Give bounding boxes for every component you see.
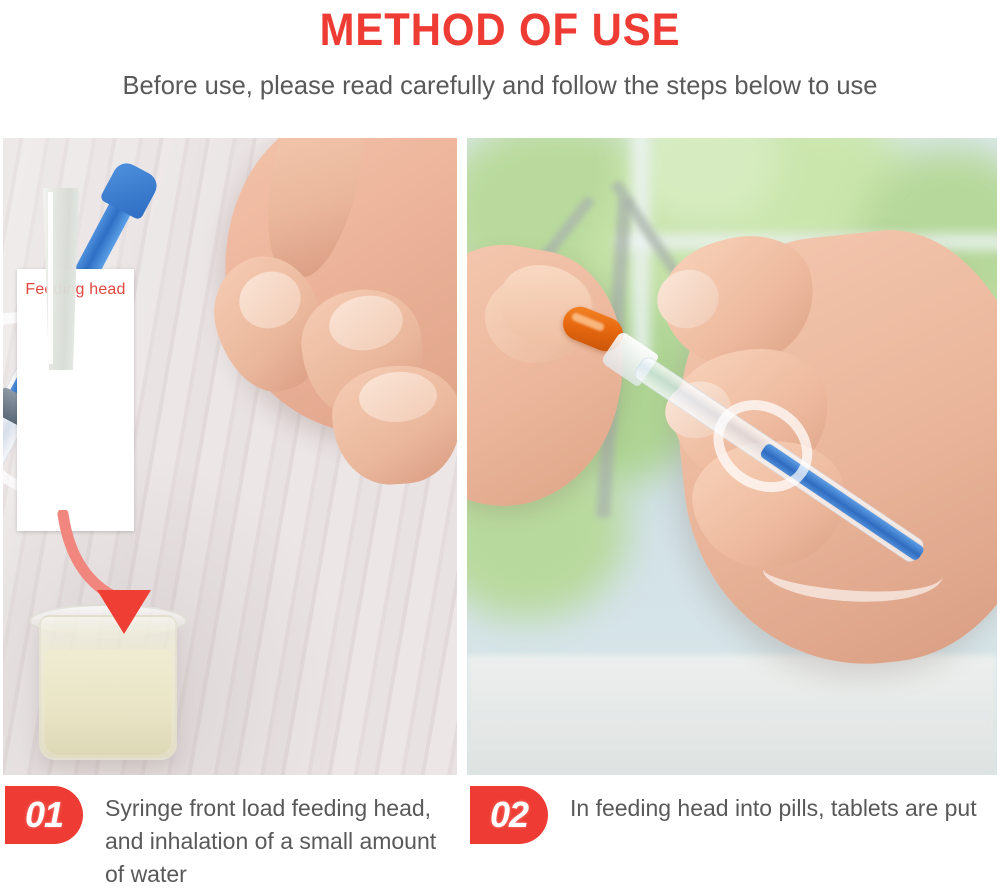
step-item-01: 01 Syringe front load feeding head, and … xyxy=(5,786,455,891)
photo-step-1: Feeding head xyxy=(3,138,457,775)
step-description: In feeding head into pills, tablets are … xyxy=(570,792,977,825)
window-sill xyxy=(467,655,997,775)
step-list: 01 Syringe front load feeding head, and … xyxy=(0,786,1000,893)
step-description: Syringe front load feeding head, and inh… xyxy=(105,792,455,891)
page-subtitle: Before use, please read carefully and fo… xyxy=(10,68,990,102)
water-in-cup xyxy=(45,650,171,755)
photo-row: Feeding head xyxy=(0,138,1000,775)
step-item-02: 02 In feeding head into pills, tablets a… xyxy=(470,786,995,844)
page-title: METHOD OF USE xyxy=(35,0,965,56)
step-number-badge: 02 xyxy=(470,786,548,844)
step-number-badge: 01 xyxy=(5,786,83,844)
feeding-head-nozzle-highlight xyxy=(48,192,53,364)
photo-step-2 xyxy=(467,138,997,775)
feeding-head-inset: Feeding head xyxy=(17,269,134,531)
